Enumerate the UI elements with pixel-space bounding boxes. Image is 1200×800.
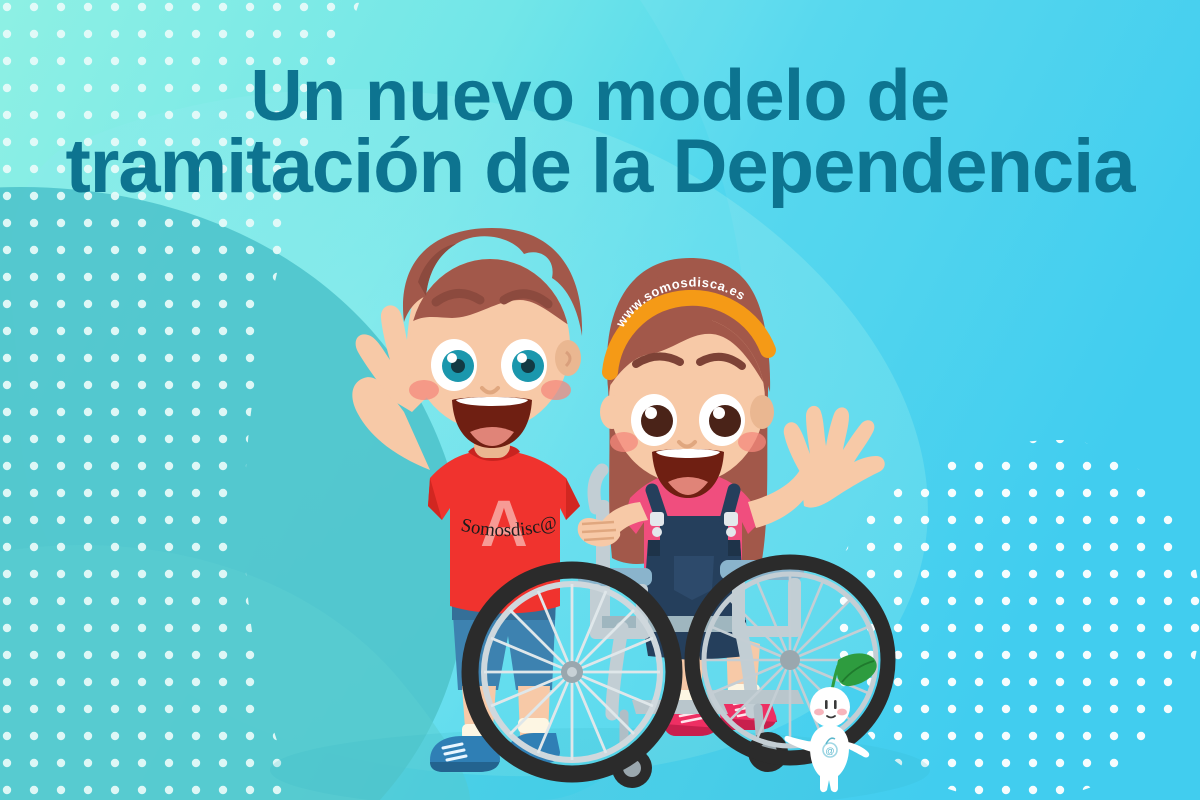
at-icon: @ — [825, 746, 834, 756]
boy-head — [399, 228, 582, 448]
poster-canvas: Un nuevo modelo de tramitación de la Dep… — [0, 0, 1200, 800]
wheelchair-wheel-left — [470, 570, 674, 774]
illustration: A Somosdisc@ — [0, 0, 1200, 800]
